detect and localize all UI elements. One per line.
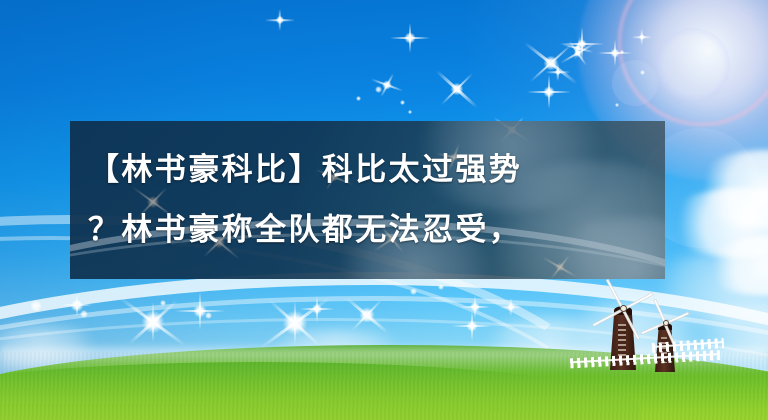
sparkle-dot — [438, 284, 444, 290]
sparkle-dot — [205, 312, 212, 319]
sparkle-dot — [356, 96, 361, 101]
lens-flare-ring-3 — [612, 60, 658, 106]
windmill-lattice — [618, 324, 626, 358]
lens-flare-ring-2 — [656, 28, 730, 102]
windmill-hub — [620, 305, 627, 312]
headline-text-block: 【林书豪科比】科比太过强势 ？林书豪称全队都无法忍受， — [70, 121, 665, 279]
sparkle-dot — [30, 300, 42, 312]
banner-image: 【林书豪科比】科比太过强势 ？林书豪称全队都无法忍受， — [0, 0, 768, 420]
sparkle-dot — [160, 300, 166, 306]
sparkle-dot — [410, 288, 417, 295]
headline-line-2: ？林书豪称全队都无法忍受， — [88, 200, 647, 260]
windmill-hub — [663, 320, 669, 326]
headline-line-1: 【林书豪科比】科比太过强势 — [88, 140, 647, 200]
sparkle-dot — [640, 70, 645, 75]
sparkle-dot — [400, 100, 405, 105]
sparkle-dot — [615, 103, 619, 107]
sparkle-dot — [408, 110, 412, 114]
sparkle-dot — [80, 310, 88, 318]
sparkle-dot — [375, 86, 382, 93]
sparkle-dot — [620, 50, 624, 54]
